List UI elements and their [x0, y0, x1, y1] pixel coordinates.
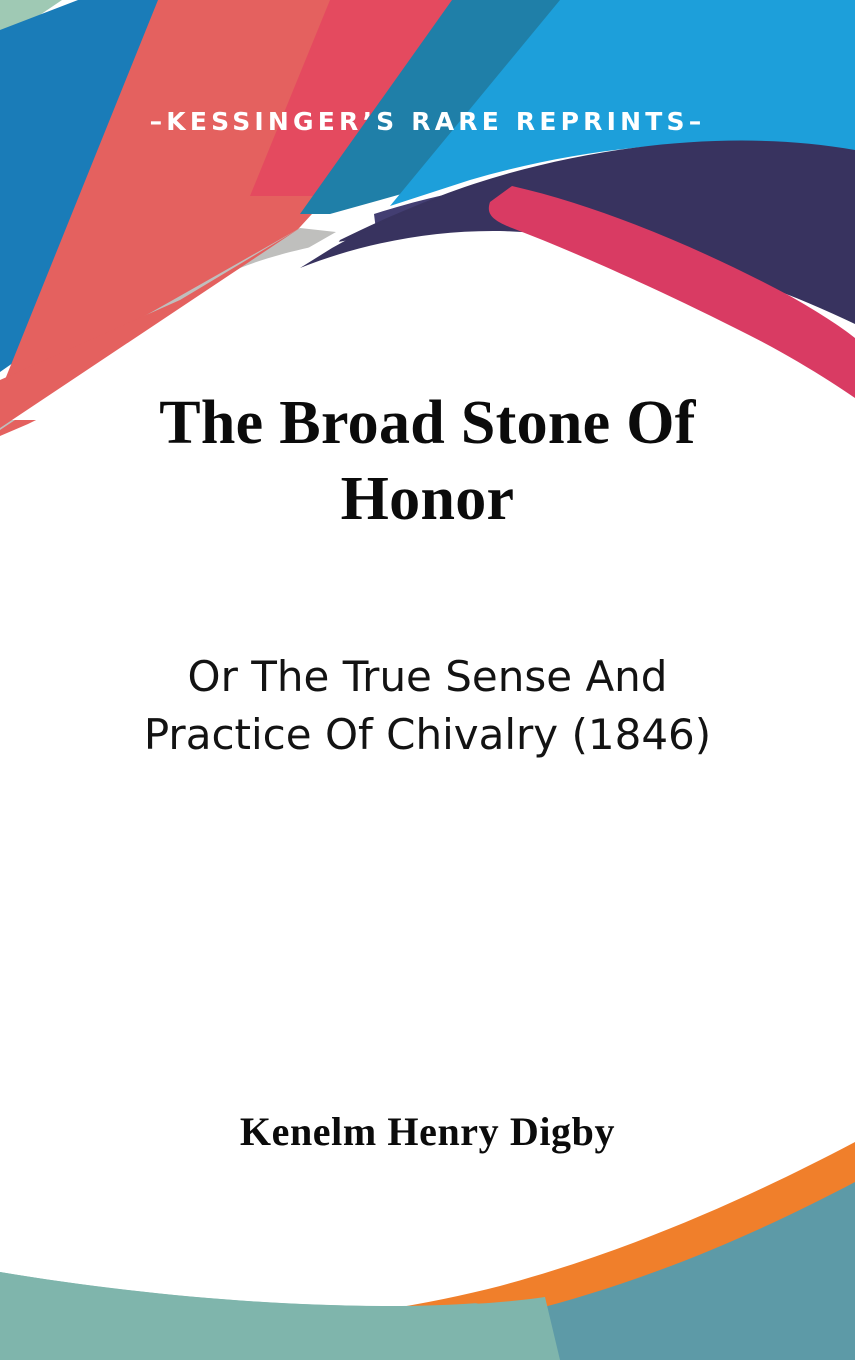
book-subtitle: Or The True Sense And Practice Of Chival…: [0, 648, 855, 764]
imprint-label: –KESSINGER’S RARE REPRINTS–: [0, 107, 855, 136]
book-cover: –KESSINGER’S RARE REPRINTS– The Broad St…: [0, 0, 855, 1360]
magenta-overlay-shape: [250, 0, 508, 196]
navy-sweep-shape: [330, 141, 855, 320]
book-author: Kenelm Henry Digby: [0, 1108, 855, 1156]
navy-body-shape: [336, 142, 855, 316]
sage-bottom-shape: [0, 1272, 478, 1357]
page-title: The Broad Stone Of Honor: [0, 386, 855, 537]
navy-region-shape: [300, 142, 855, 324]
coral-diagonal-shape: [0, 0, 508, 436]
sage-corner-shape: [0, 0, 62, 42]
navy-left-shape: [374, 180, 540, 262]
orange-band-shape: [0, 1142, 855, 1360]
crimson-swoosh-shape: [489, 186, 855, 398]
teal-bottom-shape: [0, 1182, 855, 1360]
cyan-band-shape: [390, 0, 855, 206]
sage-bottom-fill-shape: [0, 1272, 560, 1360]
blue-band-shape: [0, 0, 300, 372]
